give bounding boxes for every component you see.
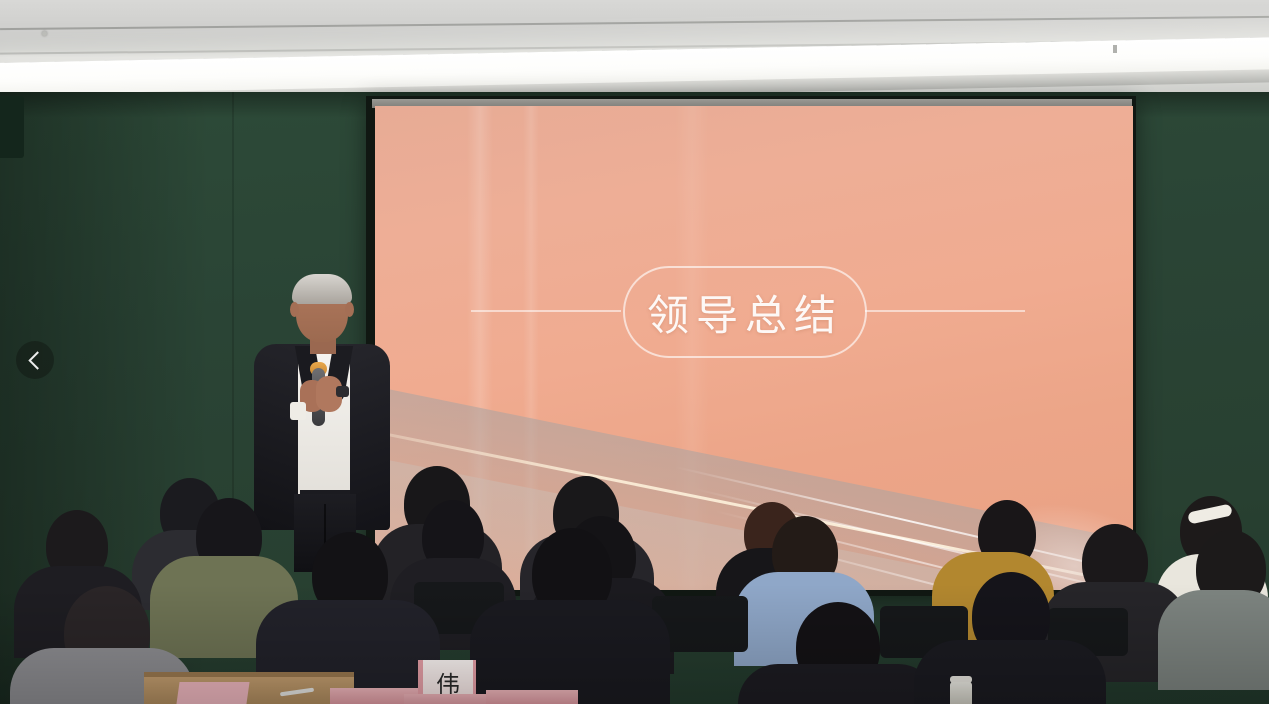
audience-body-gray xyxy=(1158,590,1269,690)
slide-title-text: 领导总结 xyxy=(647,282,843,343)
ceiling-seam xyxy=(0,16,1269,30)
photo-viewer: 领导总结 xyxy=(0,0,1269,704)
speaker-shirt-cuff xyxy=(290,402,306,420)
chevron-left-icon xyxy=(28,351,46,369)
water-bottle xyxy=(950,682,972,704)
speaker-wristwatch xyxy=(336,386,349,397)
ceiling-fixture-screw xyxy=(42,31,47,36)
name-placard-base xyxy=(404,694,486,704)
speaker-figure xyxy=(250,276,390,566)
table-front-strip xyxy=(486,690,578,704)
speaker-ear xyxy=(345,302,354,317)
slide-title-pill: 领导总结 xyxy=(623,266,867,358)
speaker-ear xyxy=(290,302,299,317)
paper-sheet xyxy=(176,682,249,704)
wall-mounted-panel xyxy=(0,96,24,158)
table-edge xyxy=(144,672,354,677)
audience-body xyxy=(738,664,938,704)
slide-rule-right xyxy=(865,310,1025,312)
speaker-hair xyxy=(292,274,352,304)
audience-body xyxy=(470,600,670,704)
slide-rule-left xyxy=(471,310,621,312)
previous-photo-button[interactable] xyxy=(16,341,54,379)
light-mount-screw xyxy=(1113,45,1117,53)
audience-body xyxy=(914,640,1106,704)
